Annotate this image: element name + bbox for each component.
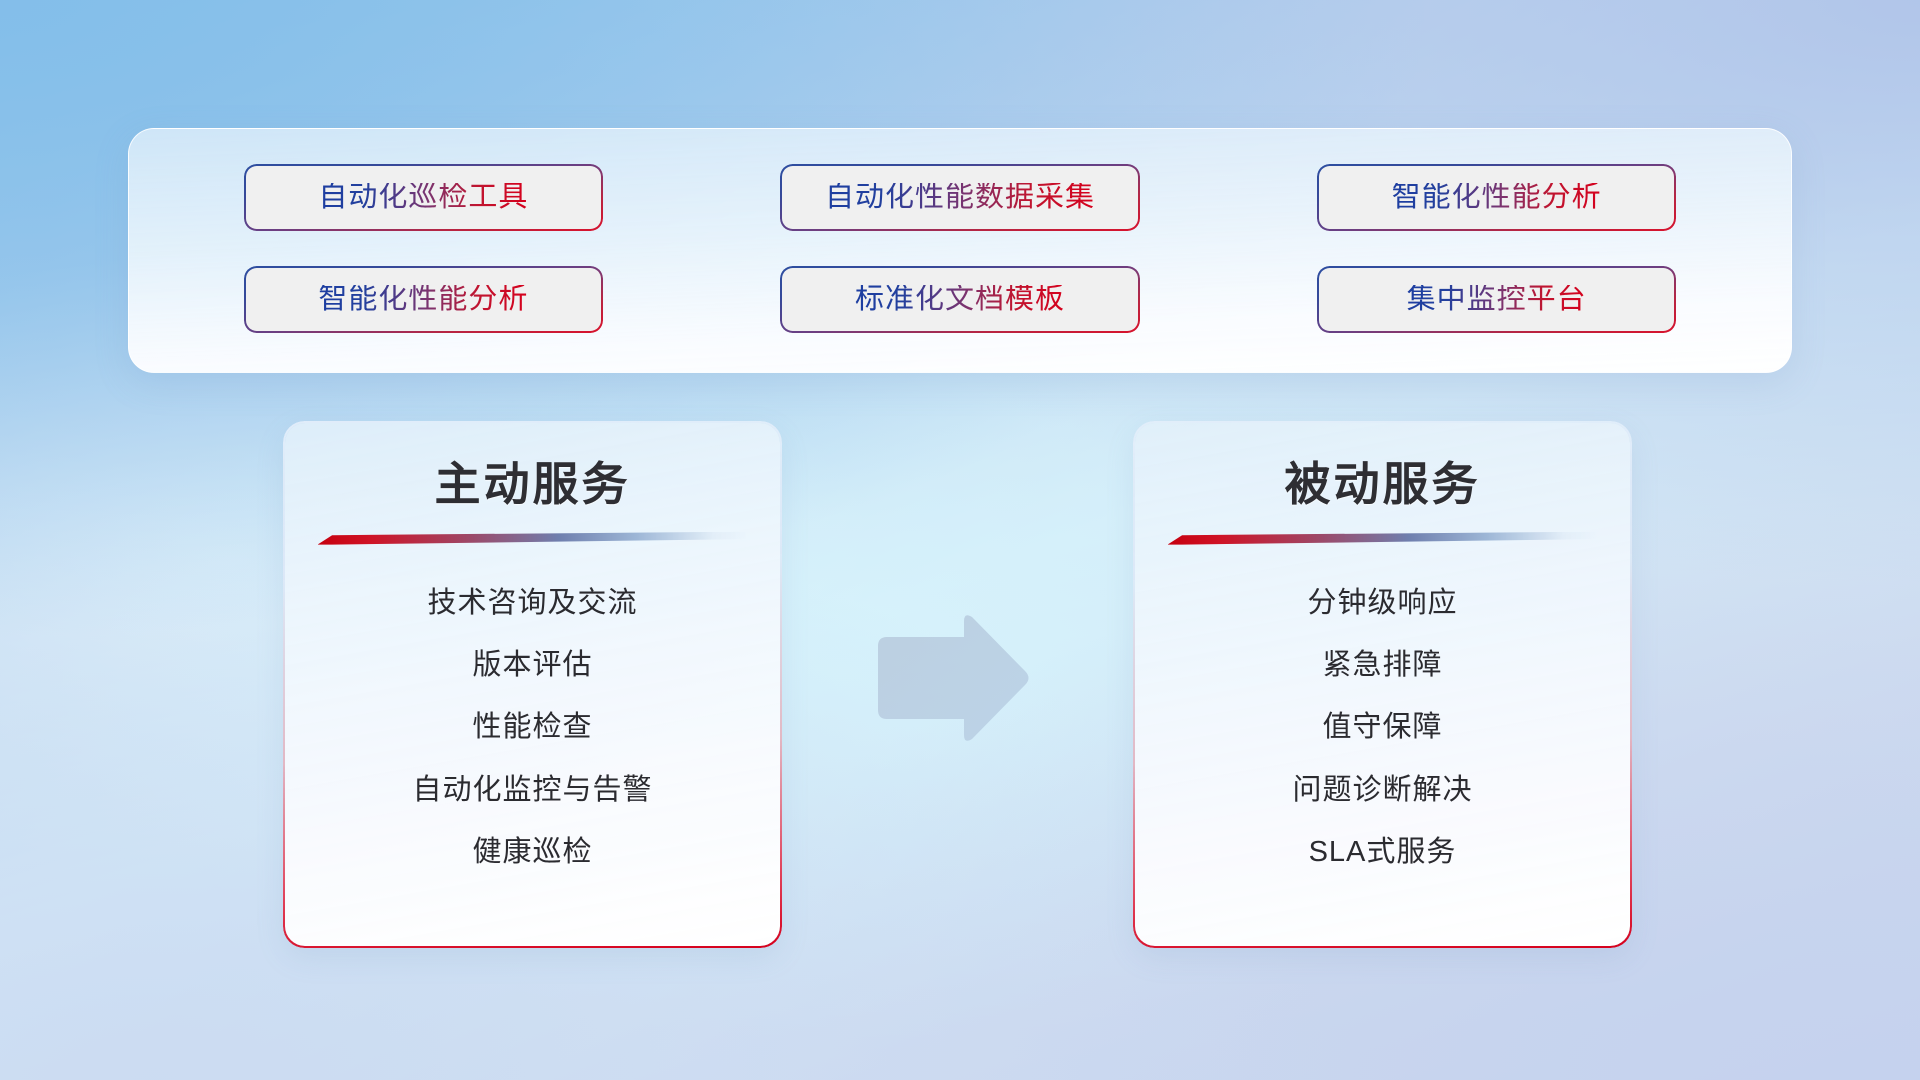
capability-tag-grid: 自动化巡检工具 自动化性能数据采集 智能化性能分析 智能化性能分析 标准化文档模… bbox=[129, 129, 1791, 372]
service-card-passive-title: 被动服务 bbox=[1285, 459, 1481, 510]
title-underline-divider bbox=[318, 532, 748, 545]
capability-tag-automated-inspection-tool[interactable]: 自动化巡检工具 bbox=[245, 166, 601, 229]
service-card-active-body: 主动服务 技术咨询及交流 版本评估 性能检查 自动化监控与告警 健康巡检 bbox=[285, 423, 780, 946]
list-item: 分钟级响应 bbox=[1307, 587, 1457, 620]
capability-tag-standardized-document-template[interactable]: 标准化文档模板 bbox=[782, 268, 1138, 331]
capability-tag-label: 智能化性能分析 bbox=[1392, 183, 1602, 212]
capability-tag-centralized-monitoring-platform[interactable]: 集中监控平台 bbox=[1319, 268, 1675, 331]
list-item: 性能检查 bbox=[472, 711, 592, 744]
title-underline-divider bbox=[1168, 532, 1598, 545]
capability-tag-label: 集中监控平台 bbox=[1407, 285, 1587, 314]
service-card-active-list: 技术咨询及交流 版本评估 性能检查 自动化监控与告警 健康巡检 bbox=[285, 587, 780, 870]
capability-tag-intelligent-performance-analysis-top[interactable]: 智能化性能分析 bbox=[1319, 166, 1675, 229]
list-item: 健康巡检 bbox=[472, 836, 592, 869]
list-item: 版本评估 bbox=[472, 649, 592, 682]
list-item: 紧急排障 bbox=[1322, 649, 1442, 682]
service-card-active[interactable]: 主动服务 技术咨询及交流 版本评估 性能检查 自动化监控与告警 健康巡检 bbox=[285, 423, 780, 946]
list-item: 值守保障 bbox=[1322, 711, 1442, 744]
list-item: SLA式服务 bbox=[1309, 836, 1457, 869]
arrow-right-icon bbox=[872, 612, 1032, 744]
capability-tag-intelligent-performance-analysis-bottom[interactable]: 智能化性能分析 bbox=[245, 268, 601, 331]
slide-canvas: 自动化巡检工具 自动化性能数据采集 智能化性能分析 智能化性能分析 标准化文档模… bbox=[0, 0, 1920, 1080]
service-card-passive[interactable]: 被动服务 分钟级响应 紧急排障 值守保障 问题诊断解决 SLA式服务 bbox=[1135, 423, 1630, 946]
service-card-passive-list: 分钟级响应 紧急排障 值守保障 问题诊断解决 SLA式服务 bbox=[1135, 587, 1630, 870]
service-card-active-title: 主动服务 bbox=[435, 459, 631, 510]
capability-tag-automated-performance-data-collection[interactable]: 自动化性能数据采集 bbox=[782, 166, 1138, 229]
capability-tag-label: 自动化性能数据采集 bbox=[825, 183, 1095, 212]
service-card-passive-body: 被动服务 分钟级响应 紧急排障 值守保障 问题诊断解决 SLA式服务 bbox=[1135, 423, 1630, 946]
capability-tag-label: 自动化巡检工具 bbox=[318, 183, 528, 212]
capability-panel: 自动化巡检工具 自动化性能数据采集 智能化性能分析 智能化性能分析 标准化文档模… bbox=[128, 128, 1792, 373]
list-item: 自动化监控与告警 bbox=[412, 774, 652, 807]
list-item: 技术咨询及交流 bbox=[427, 587, 637, 620]
capability-tag-label: 标准化文档模板 bbox=[855, 285, 1065, 314]
list-item: 问题诊断解决 bbox=[1292, 774, 1472, 807]
capability-tag-label: 智能化性能分析 bbox=[318, 285, 528, 314]
